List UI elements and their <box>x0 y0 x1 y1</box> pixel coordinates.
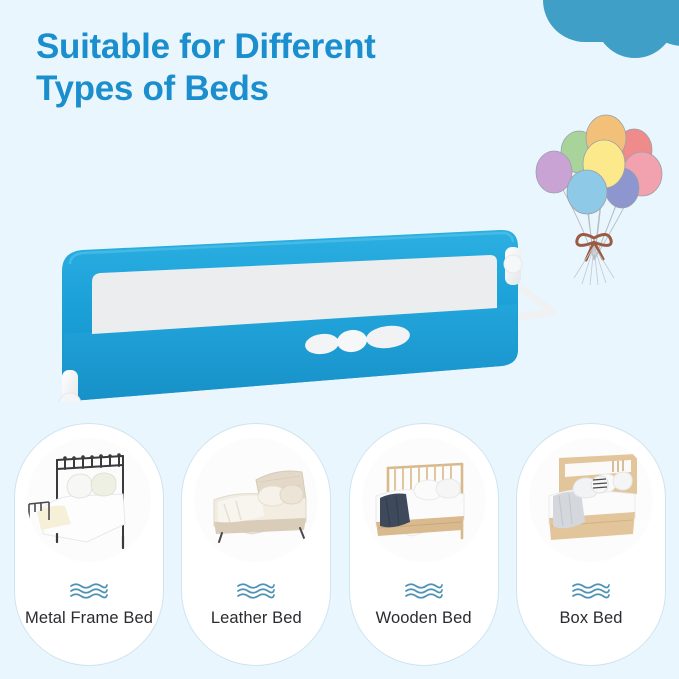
box-bed-photo <box>529 438 653 562</box>
right-pivot-bracket <box>504 247 522 285</box>
bed-type-card-leather[interactable]: Leather Bed <box>181 423 331 666</box>
card-label: Metal Frame Bed <box>21 608 157 629</box>
card-label: Leather Bed <box>188 608 324 629</box>
page-title-line1: Suitable for Different <box>36 27 376 66</box>
page-title: Suitable for Different Types of Beds <box>36 26 556 109</box>
product-feature-page: Suitable for Different Types of Beds <box>0 0 679 679</box>
balloons-group <box>536 115 662 214</box>
card-label: Wooden Bed <box>356 608 492 629</box>
bed-rail-product-image <box>0 112 600 402</box>
bed-type-card-list: Metal Frame Bed <box>14 423 666 666</box>
page-title-line2: Types of Beds <box>36 68 556 110</box>
rail-fabric-panel <box>62 230 518 400</box>
wavy-lines-icon <box>235 582 277 599</box>
wavy-lines-icon <box>570 582 612 599</box>
wavy-lines-icon <box>68 582 110 599</box>
metal-frame-bed-photo <box>27 438 151 562</box>
balloon-bunch-icon <box>524 112 674 287</box>
bed-type-card-box[interactable]: Box Bed <box>516 423 666 666</box>
wavy-lines-icon <box>403 582 445 599</box>
leather-bed-photo <box>194 438 318 562</box>
bed-type-card-metal-frame[interactable]: Metal Frame Bed <box>14 423 164 666</box>
ribbon-tails <box>574 246 614 285</box>
wooden-bed-photo <box>362 438 486 562</box>
bed-type-card-wooden[interactable]: Wooden Bed <box>349 423 499 666</box>
card-label: Box Bed <box>523 608 659 629</box>
